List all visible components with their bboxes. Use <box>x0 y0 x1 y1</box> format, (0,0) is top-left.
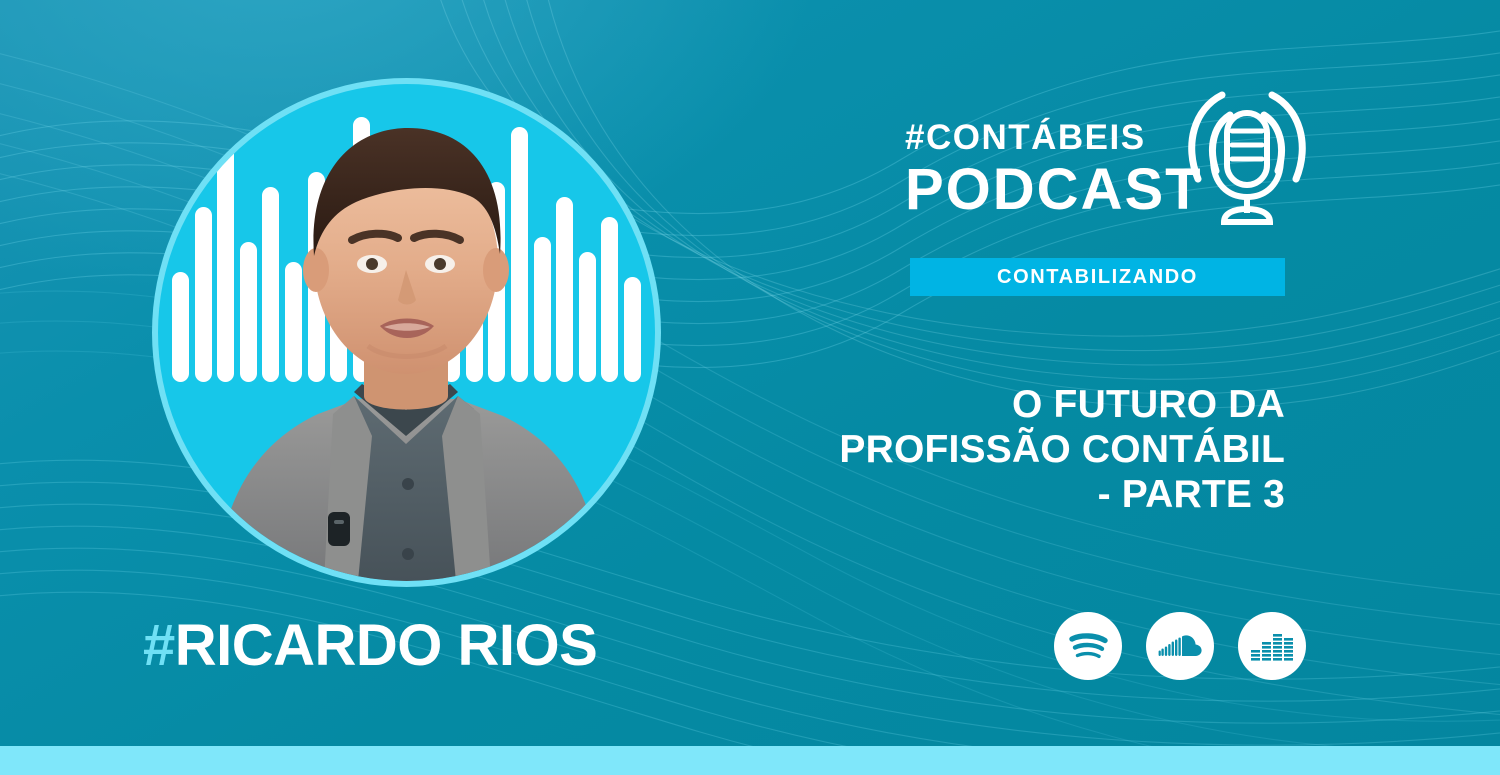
podcast-banner: #RICARDO RIOS #CONTÁBEIS PODCAST <box>0 0 1500 775</box>
speaker-portrait-circle <box>158 84 655 581</box>
deezer-icon[interactable] <box>1238 612 1306 680</box>
episode-title-line-1: O FUTURO DA <box>645 382 1285 427</box>
spotify-icon[interactable] <box>1054 612 1122 680</box>
episode-title-line-2: PROFISSÃO CONTÁBIL <box>645 427 1285 472</box>
social-links <box>1054 612 1306 680</box>
brand-logo: #CONTÁBEIS PODCAST <box>905 120 1300 219</box>
speaker-name: #RICARDO RIOS <box>143 617 597 675</box>
episode-title-line-3: - PARTE 3 <box>645 472 1285 517</box>
speaker-name-hash: # <box>143 613 175 678</box>
speaker-name-text: RICARDO RIOS <box>175 613 598 678</box>
page-title: O FUTURO DA PROFISSÃO CONTÁBIL - PARTE 3 <box>645 382 1285 518</box>
soundcloud-icon[interactable] <box>1146 612 1214 680</box>
microphone-icon <box>1186 87 1308 232</box>
badge-label: CONTABILIZANDO <box>997 266 1198 289</box>
avatar <box>158 84 655 581</box>
bottom-accent-strip <box>0 746 1500 775</box>
status-badge: CONTABILIZANDO <box>910 258 1285 296</box>
